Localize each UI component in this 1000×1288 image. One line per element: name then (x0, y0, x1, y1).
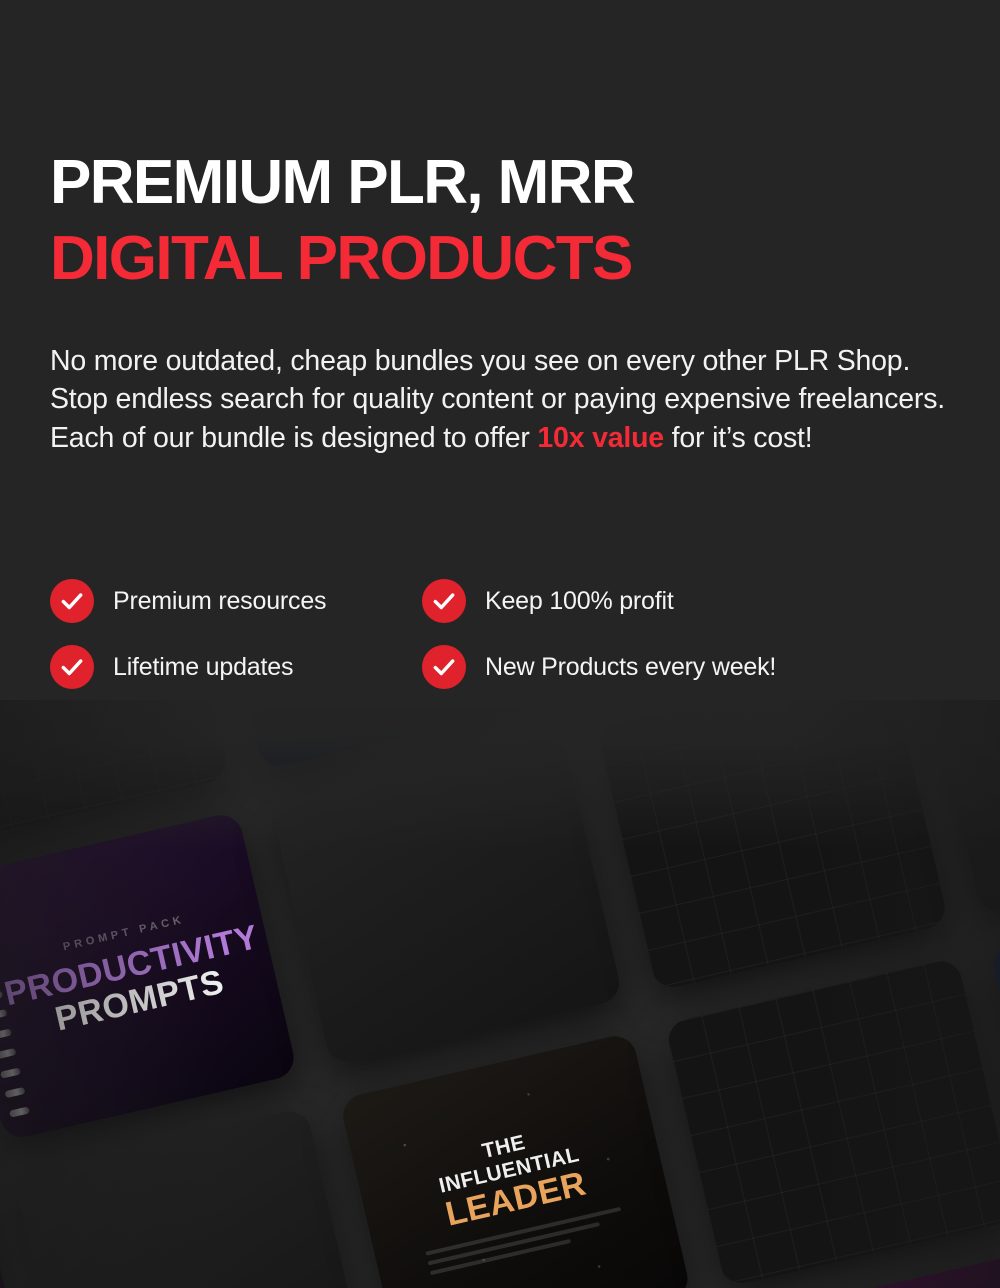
mockup-card (270, 736, 623, 1067)
hero-section: PREMIUM PLR, MRR DIGITAL PRODUCTS No mor… (50, 152, 980, 457)
feature-item-lifetime-updates: Lifetime updates (50, 634, 422, 700)
feature-label: Premium resources (113, 587, 326, 616)
check-icon (50, 579, 94, 623)
hero-paragraph: No more outdated, cheap bundles you see … (50, 342, 960, 457)
feature-label: New Products every week! (485, 653, 776, 682)
mockup-card (596, 700, 949, 991)
page-title: PREMIUM PLR, MRR DIGITAL PRODUCTS (50, 152, 980, 290)
mockup-grid: PROMPT PACK PRODUCTIVITY PROMPTS INFLUEN… (0, 700, 1000, 1288)
product-mockup-gallery: PROMPT PACK PRODUCTIVITY PROMPTS INFLUEN… (0, 700, 1000, 1288)
paragraph-highlight: 10x value (537, 422, 664, 454)
mockup-card (664, 957, 1000, 1288)
feature-label: Lifetime updates (113, 653, 293, 682)
check-icon (50, 645, 94, 689)
check-icon (422, 645, 466, 689)
mockup-card-influential-leader: THE INFLUENTIAL LEADER The Influential L… (339, 1032, 692, 1288)
feature-item-premium-resources: Premium resources (50, 568, 422, 634)
check-icon (422, 579, 466, 623)
headline-line-1: PREMIUM PLR, MRR (50, 152, 980, 214)
feature-item-new-products-every-week: New Products every week! (422, 634, 910, 700)
feature-list: Premium resources Keep 100% profit Lifet… (50, 568, 910, 700)
paragraph-text-after: for it’s cost! (664, 422, 813, 454)
promo-page: PROMPT PACK PRODUCTIVITY PROMPTS INFLUEN… (0, 0, 1000, 1288)
starfield-decor (339, 1032, 692, 1288)
feature-item-keep-100-profit: Keep 100% profit (422, 568, 910, 634)
mockup-card (13, 1107, 366, 1288)
mockup-card-productivity-prompts: PROMPT PACK PRODUCTIVITY PROMPTS (0, 811, 298, 1142)
feature-label: Keep 100% profit (485, 587, 674, 616)
headline-line-2: DIGITAL PRODUCTS (50, 228, 980, 290)
